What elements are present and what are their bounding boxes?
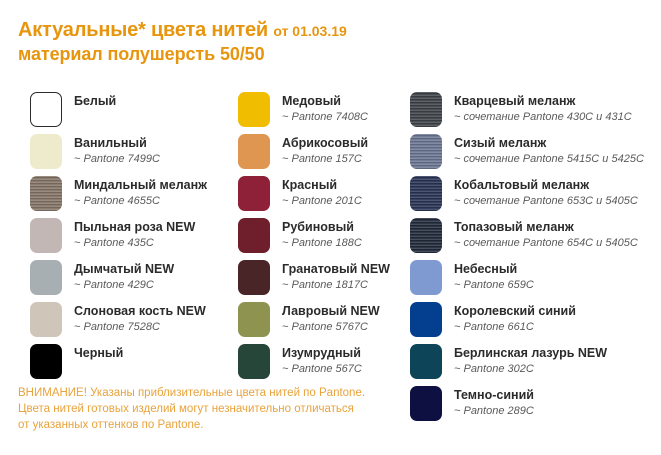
color-swatch-row[interactable]: Топазовый меланж~ сочетание Pantone 654C… (410, 218, 655, 260)
color-labels: Топазовый меланж~ сочетание Pantone 654C… (454, 218, 638, 251)
color-swatch[interactable] (30, 218, 62, 253)
color-swatch-row[interactable]: Черный (30, 344, 230, 386)
color-labels: Абрикосовый~ Pantone 157C (282, 134, 368, 167)
color-swatch-row[interactable]: Королевский синий~ Pantone 661C (410, 302, 655, 344)
color-swatch-row[interactable]: Гранатовый NEW~ Pantone 1817C (238, 260, 408, 302)
disclaimer-line-1: ВНИМАНИЕ! Указаны приблизительные цвета … (18, 385, 438, 401)
color-name: Ванильный (74, 135, 160, 151)
color-name: Сизый меланж (454, 135, 644, 151)
color-name: Красный (282, 177, 362, 193)
pantone-reference: ~ Pantone 429C (74, 278, 174, 293)
color-swatch[interactable] (410, 344, 442, 379)
color-labels: Кварцевый меланж~ сочетание Pantone 430C… (454, 92, 632, 125)
color-swatch[interactable] (238, 218, 270, 253)
color-swatch[interactable] (410, 92, 442, 127)
pantone-reference: ~ Pantone 435C (74, 236, 195, 251)
color-labels: Лавровый NEW~ Pantone 5767C (282, 302, 380, 335)
color-swatch-row[interactable]: Кварцевый меланж~ сочетание Pantone 430C… (410, 92, 655, 134)
color-swatch-row[interactable]: Лавровый NEW~ Pantone 5767C (238, 302, 408, 344)
disclaimer-line-2: Цвета нитей готовых изделий могут незнач… (18, 401, 438, 417)
color-name: Королевский синий (454, 303, 576, 319)
color-name: Гранатовый NEW (282, 261, 390, 277)
palette-column-1: БелыйВанильный~ Pantone 7499CМиндальный … (30, 92, 230, 386)
pantone-reference: ~ сочетание Pantone 5415C и 5425C (454, 152, 644, 167)
color-swatch-row[interactable]: Небесный~ Pantone 659C (410, 260, 655, 302)
color-swatch[interactable] (410, 176, 442, 211)
pantone-reference: ~ Pantone 157C (282, 152, 368, 167)
pantone-reference: ~ сочетание Pantone 654C и 5405C (454, 236, 638, 251)
palette-column-2: Медовый~ Pantone 7408CАбрикосовый~ Panto… (238, 92, 408, 386)
color-name: Темно-синий (454, 387, 534, 403)
color-swatch[interactable] (410, 218, 442, 253)
color-swatch-row[interactable]: Берлинская лазурь NEW~ Pantone 302C (410, 344, 655, 386)
color-labels: Слоновая кость NEW~ Pantone 7528C (74, 302, 206, 335)
color-name: Изумрудный (282, 345, 362, 361)
color-labels: Миндальный меланж~ Pantone 4655C (74, 176, 207, 209)
color-swatch-row[interactable]: Дымчатый NEW~ Pantone 429C (30, 260, 230, 302)
page-title-date: от 01.03.19 (273, 23, 346, 39)
disclaimer-notice: ВНИМАНИЕ! Указаны приблизительные цвета … (18, 385, 438, 433)
color-labels: Берлинская лазурь NEW~ Pantone 302C (454, 344, 607, 377)
color-name: Слоновая кость NEW (74, 303, 206, 319)
color-swatch[interactable] (238, 134, 270, 169)
color-swatch-row[interactable]: Медовый~ Pantone 7408C (238, 92, 408, 134)
pantone-reference: ~ Pantone 659C (454, 278, 534, 293)
page-title-main: Актуальные* цвета нитей (18, 19, 268, 41)
color-labels: Королевский синий~ Pantone 661C (454, 302, 576, 335)
page-title: Актуальные* цвета нитей от 01.03.19 (18, 18, 638, 43)
color-labels: Ванильный~ Pantone 7499C (74, 134, 160, 167)
color-labels: Рубиновый~ Pantone 188C (282, 218, 362, 251)
color-name: Берлинская лазурь NEW (454, 345, 607, 361)
color-name: Медовый (282, 93, 368, 109)
color-swatch-row[interactable]: Белый (30, 92, 230, 134)
color-name: Белый (74, 93, 116, 109)
color-swatch[interactable] (30, 176, 62, 211)
color-name: Миндальный меланж (74, 177, 207, 193)
color-swatch-row[interactable]: Кобальтовый меланж~ сочетание Pantone 65… (410, 176, 655, 218)
color-swatch-row[interactable]: Красный~ Pantone 201C (238, 176, 408, 218)
color-swatch[interactable] (410, 302, 442, 337)
pantone-reference: ~ Pantone 4655C (74, 194, 207, 209)
color-labels: Небесный~ Pantone 659C (454, 260, 534, 293)
color-swatch-row[interactable]: Рубиновый~ Pantone 188C (238, 218, 408, 260)
pantone-reference: ~ Pantone 302C (454, 362, 607, 377)
pantone-reference: ~ сочетание Pantone 653C и 5405C (454, 194, 638, 209)
color-name: Лавровый NEW (282, 303, 380, 319)
pantone-reference: ~ Pantone 7499C (74, 152, 160, 167)
pantone-reference: ~ сочетание Pantone 430C и 431C (454, 110, 632, 125)
color-labels: Темно-синий~ Pantone 289C (454, 386, 534, 419)
color-labels: Изумрудный~ Pantone 567C (282, 344, 362, 377)
pantone-reference: ~ Pantone 201C (282, 194, 362, 209)
page-header: Актуальные* цвета нитей от 01.03.19 мате… (18, 18, 638, 66)
color-swatch[interactable] (30, 302, 62, 337)
disclaimer-line-3: от указанных оттенков по Pantone. (18, 417, 438, 433)
color-labels: Кобальтовый меланж~ сочетание Pantone 65… (454, 176, 638, 209)
pantone-reference: ~ Pantone 7408C (282, 110, 368, 125)
color-swatch[interactable] (30, 134, 62, 169)
pantone-reference: ~ Pantone 188C (282, 236, 362, 251)
color-name: Кобальтовый меланж (454, 177, 638, 193)
color-name: Пыльная роза NEW (74, 219, 195, 235)
color-name: Рубиновый (282, 219, 362, 235)
color-labels: Белый (74, 92, 116, 109)
color-swatch[interactable] (238, 92, 270, 127)
color-swatch[interactable] (410, 134, 442, 169)
color-swatch[interactable] (410, 260, 442, 295)
pantone-reference: ~ Pantone 7528C (74, 320, 206, 335)
color-swatch-row[interactable]: Миндальный меланж~ Pantone 4655C (30, 176, 230, 218)
color-name: Дымчатый NEW (74, 261, 174, 277)
color-swatch-row[interactable]: Пыльная роза NEW~ Pantone 435C (30, 218, 230, 260)
color-swatch[interactable] (30, 92, 62, 127)
color-labels: Красный~ Pantone 201C (282, 176, 362, 209)
pantone-reference: ~ Pantone 1817C (282, 278, 390, 293)
color-swatch[interactable] (30, 344, 62, 379)
color-name: Небесный (454, 261, 534, 277)
color-labels: Сизый меланж~ сочетание Pantone 5415C и … (454, 134, 644, 167)
color-labels: Дымчатый NEW~ Pantone 429C (74, 260, 174, 293)
color-swatch-row[interactable]: Ванильный~ Pantone 7499C (30, 134, 230, 176)
page-subtitle: материал полушерсть 50/50 (18, 43, 638, 66)
color-swatch[interactable] (238, 260, 270, 295)
color-swatch[interactable] (238, 302, 270, 337)
color-swatch-row[interactable]: Темно-синий~ Pantone 289C (410, 386, 655, 428)
pantone-reference: ~ Pantone 289C (454, 404, 534, 419)
color-labels: Медовый~ Pantone 7408C (282, 92, 368, 125)
color-name: Топазовый меланж (454, 219, 638, 235)
pantone-reference: ~ Pantone 5767C (282, 320, 380, 335)
color-name: Абрикосовый (282, 135, 368, 151)
color-swatch-row[interactable]: Изумрудный~ Pantone 567C (238, 344, 408, 386)
color-swatch-row[interactable]: Слоновая кость NEW~ Pantone 7528C (30, 302, 230, 344)
color-swatch[interactable] (238, 344, 270, 379)
color-swatch[interactable] (238, 176, 270, 211)
color-labels: Пыльная роза NEW~ Pantone 435C (74, 218, 195, 251)
color-name: Черный (74, 345, 123, 361)
pantone-reference: ~ Pantone 567C (282, 362, 362, 377)
color-name: Кварцевый меланж (454, 93, 632, 109)
color-labels: Черный (74, 344, 123, 361)
pantone-reference: ~ Pantone 661C (454, 320, 576, 335)
palette-column-3: Кварцевый меланж~ сочетание Pantone 430C… (410, 92, 655, 428)
color-swatch[interactable] (30, 260, 62, 295)
color-labels: Гранатовый NEW~ Pantone 1817C (282, 260, 390, 293)
color-swatch-row[interactable]: Сизый меланж~ сочетание Pantone 5415C и … (410, 134, 655, 176)
color-swatch-row[interactable]: Абрикосовый~ Pantone 157C (238, 134, 408, 176)
